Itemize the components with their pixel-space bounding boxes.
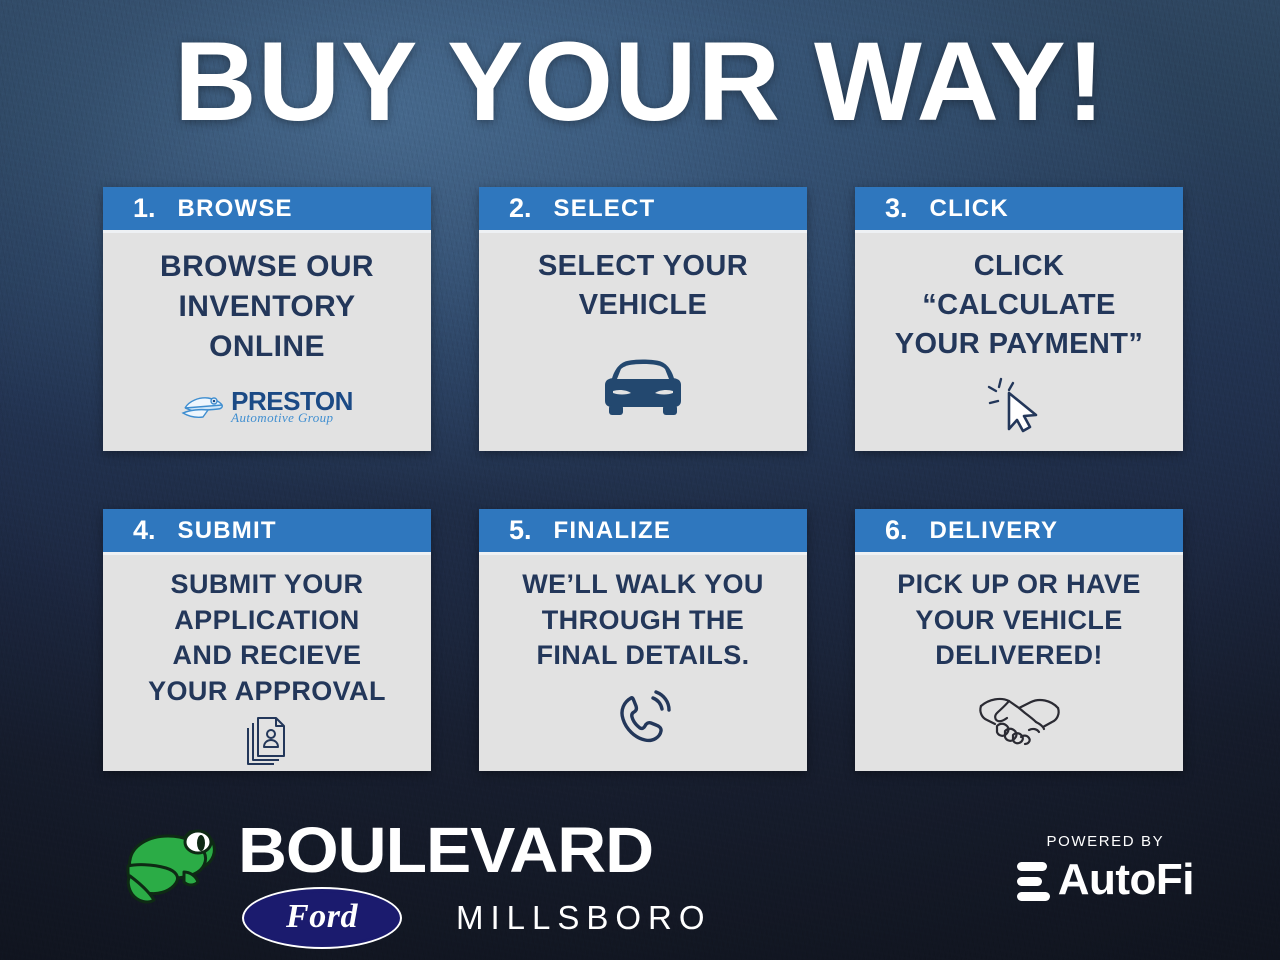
handshake-icon: [973, 690, 1065, 748]
step-card-select[interactable]: 2. SELECT SELECT YOUR VEHICLE: [479, 187, 807, 451]
ford-wordmark: Ford: [286, 900, 358, 934]
step-title: SELECT: [554, 197, 656, 221]
powered-by-label: POWERED BY: [1017, 834, 1194, 849]
step-title: CLICK: [930, 197, 1009, 221]
phone-call-icon: [611, 688, 675, 750]
preston-automotive-group-logo: PRESTON Automotive Group: [115, 368, 419, 441]
step-icon-slot: [867, 674, 1171, 761]
step-card-body: CLICK “CALCULATE YOUR PAYMENT”: [855, 233, 1183, 451]
steps-grid: 1. BROWSE BROWSE OUR INVENTORY ONLINE: [103, 187, 1183, 771]
step-card-body: PICK UP OR HAVE YOUR VEHICLE DELIVERED!: [855, 555, 1183, 771]
step-card-header: 4. SUBMIT: [103, 509, 431, 555]
page-title: BUY YOUR WAY!: [0, 26, 1280, 138]
step-card-header: 2. SELECT: [479, 187, 807, 233]
step-card-header: 3. CLICK: [855, 187, 1183, 233]
step-icon-slot: [491, 674, 795, 761]
step-card-body: SUBMIT YOUR APPLICATION AND RECIEVE YOUR…: [103, 555, 431, 771]
step-description: CLICK “CALCULATE YOUR PAYMENT”: [895, 247, 1144, 364]
step-title: BROWSE: [178, 197, 293, 221]
step-card-header: 6. DELIVERY: [855, 509, 1183, 555]
application-document-icon: [238, 714, 296, 772]
dealer-name: BOULEVARD: [238, 820, 740, 881]
step-title: SUBMIT: [178, 519, 277, 543]
step-title: FINALIZE: [554, 519, 672, 543]
step-icon-slot: [867, 364, 1171, 441]
powered-by-autofi[interactable]: POWERED BY AutoFi: [1017, 834, 1194, 902]
footer-branding: BOULEVARD Ford MILLSBORO POWERED BY Auto…: [0, 812, 1280, 960]
step-card-body: SELECT YOUR VEHICLE: [479, 233, 807, 451]
step-number: 2.: [509, 195, 532, 222]
step-number: 5.: [509, 517, 532, 544]
step-card-click[interactable]: 3. CLICK CLICK “CALCULATE YOUR PAYMENT”: [855, 187, 1183, 451]
step-number: 1.: [133, 195, 156, 222]
step-card-browse[interactable]: 1. BROWSE BROWSE OUR INVENTORY ONLINE: [103, 187, 431, 451]
autofi-mark-icon: [1017, 862, 1050, 901]
ford-logo: Ford: [242, 887, 402, 949]
step-number: 6.: [885, 517, 908, 544]
step-title: DELIVERY: [930, 519, 1059, 543]
step-card-delivery[interactable]: 6. DELIVERY PICK UP OR HAVE YOUR VEHICLE…: [855, 509, 1183, 771]
step-description: BROWSE OUR INVENTORY ONLINE: [160, 247, 374, 368]
step-description: SUBMIT YOUR APPLICATION AND RECIEVE YOUR…: [148, 567, 386, 710]
step-card-header: 1. BROWSE: [103, 187, 431, 233]
autofi-wordmark: AutoFi: [1058, 858, 1194, 902]
dealer-location: MILLSBORO: [456, 901, 712, 934]
cursor-click-icon: [983, 373, 1055, 435]
step-card-body: BROWSE OUR INVENTORY ONLINE: [103, 233, 431, 451]
step-description: WE’LL WALK YOU THROUGH THE FINAL DETAILS…: [522, 567, 764, 674]
step-card-body: WE’LL WALK YOU THROUGH THE FINAL DETAILS…: [479, 555, 807, 771]
step-card-submit[interactable]: 4. SUBMIT SUBMIT YOUR APPLICATION AND RE…: [103, 509, 431, 771]
step-icon-slot: [115, 710, 419, 772]
step-description: PICK UP OR HAVE YOUR VEHICLE DELIVERED!: [897, 567, 1141, 674]
preston-frog-icon: [181, 391, 227, 421]
step-description: SELECT YOUR VEHICLE: [538, 247, 748, 325]
step-card-header: 5. FINALIZE: [479, 509, 807, 555]
step-number: 3.: [885, 195, 908, 222]
car-icon: [595, 349, 691, 421]
step-icon-slot: [491, 325, 795, 441]
frog-mascot-icon: [118, 820, 226, 912]
step-card-finalize[interactable]: 5. FINALIZE WE’LL WALK YOU THROUGH THE F…: [479, 509, 807, 771]
poster-canvas: BUY YOUR WAY! 1. BROWSE BROWSE OUR INVEN…: [0, 0, 1280, 960]
dealer-logo[interactable]: BOULEVARD Ford MILLSBORO: [118, 820, 712, 949]
step-number: 4.: [133, 517, 156, 544]
